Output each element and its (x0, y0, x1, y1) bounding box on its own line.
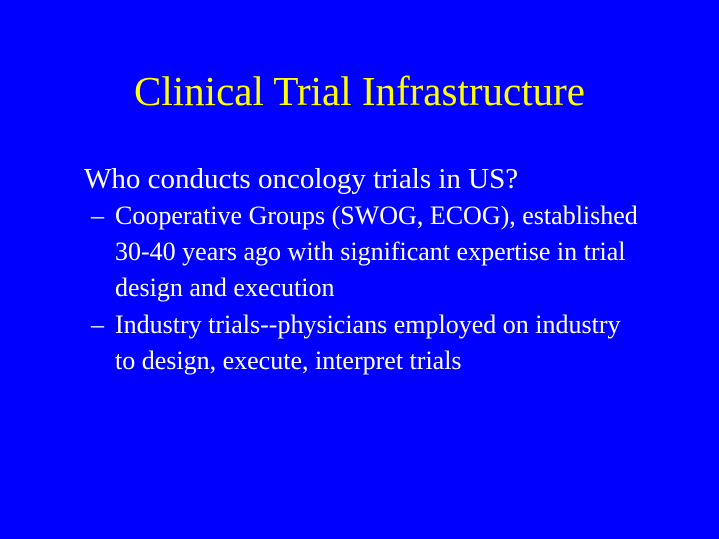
bullet-dash-icon: – (91, 307, 104, 343)
slide-body: Who conducts oncology trials in US? – Co… (84, 162, 684, 379)
presentation-slide: Clinical Trial Infrastructure Who conduc… (0, 0, 719, 539)
bullet-item-2-text: Industry trials--physicians employed on … (115, 307, 643, 379)
body-heading: Who conducts oncology trials in US? (84, 162, 684, 196)
bullet-item-1: – Cooperative Groups (SWOG, ECOG), estab… (84, 198, 643, 306)
slide-title: Clinical Trial Infrastructure (0, 68, 719, 114)
bullet-item-2: – Industry trials--physicians employed o… (84, 307, 643, 379)
bullet-item-1-text: Cooperative Groups (SWOG, ECOG), establi… (115, 198, 643, 306)
bullet-dash-icon: – (91, 198, 104, 234)
